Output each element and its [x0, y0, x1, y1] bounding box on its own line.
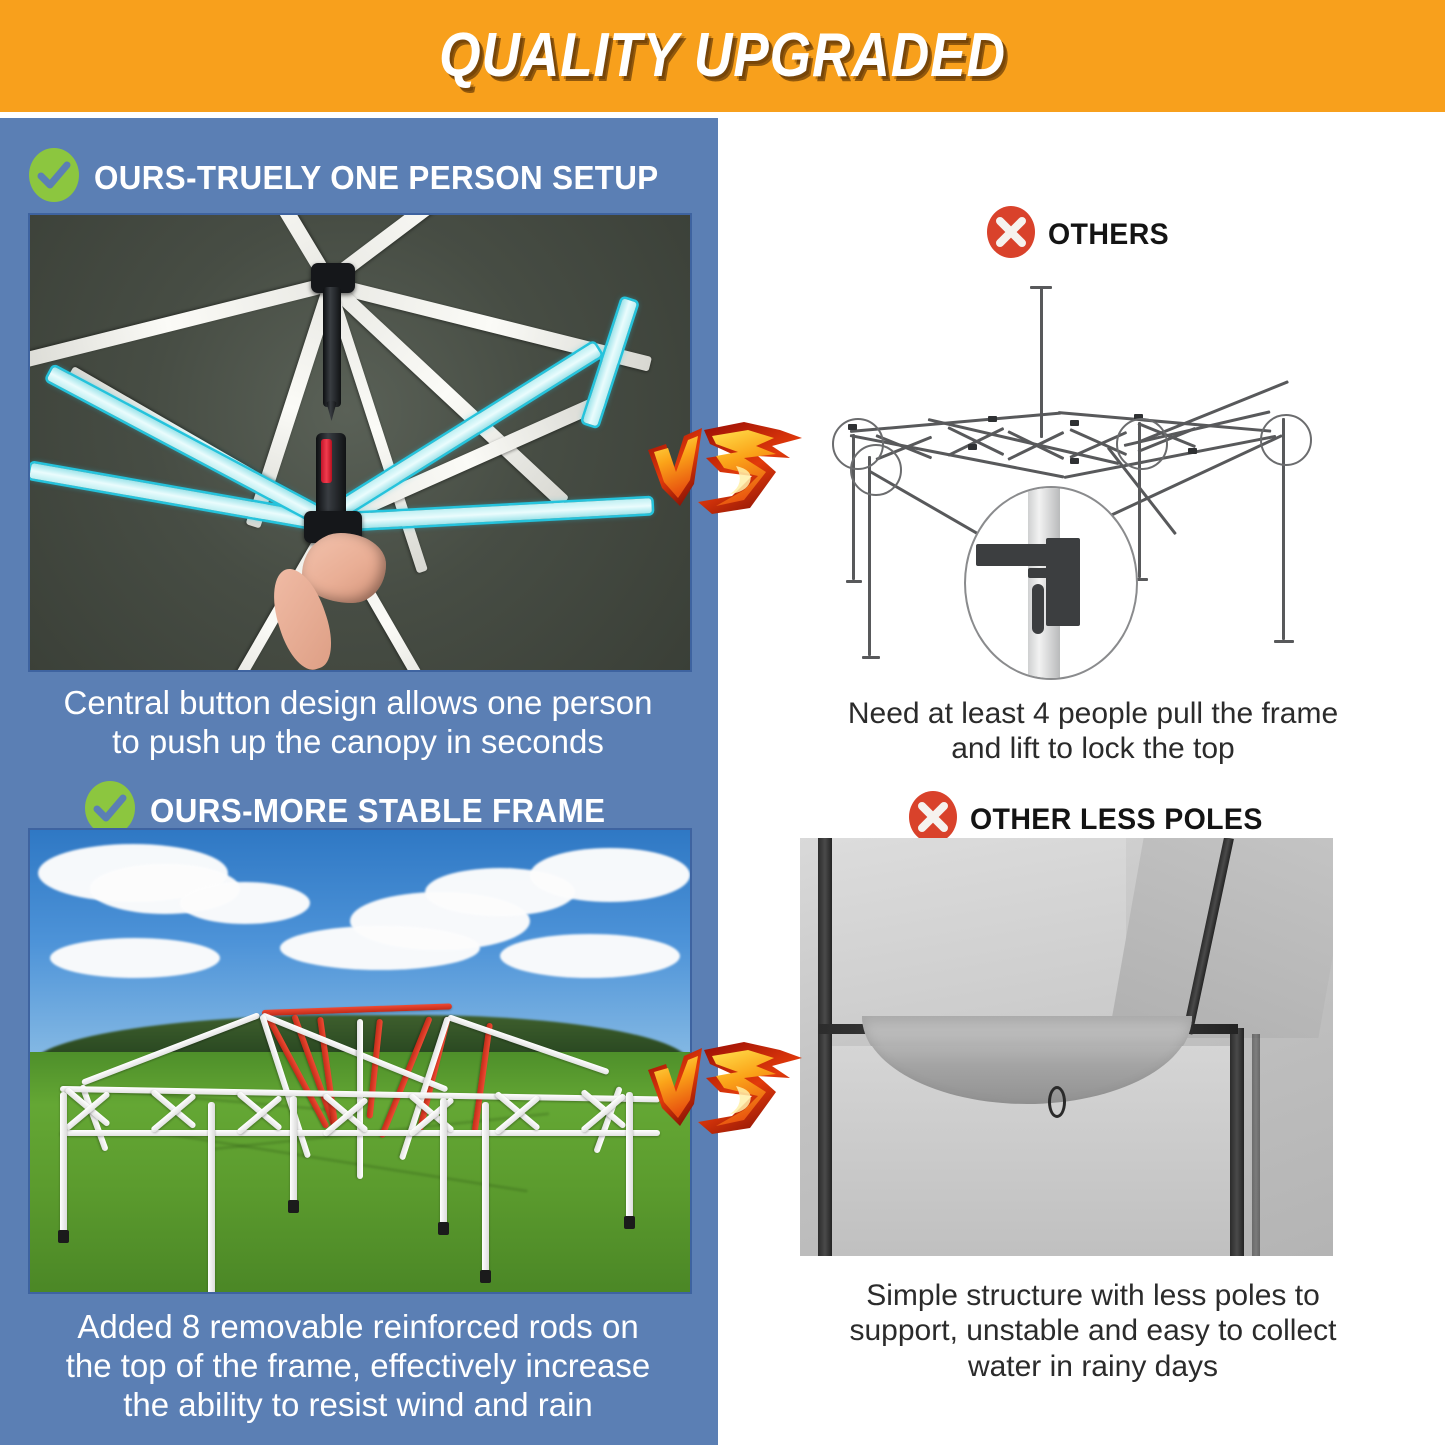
frame-foot	[288, 1200, 299, 1213]
frame-foot	[624, 1216, 635, 1229]
ours-setup-heading-row: OURS-TRUELY ONE PERSON SETUP	[28, 147, 688, 208]
frame-leg	[290, 1096, 297, 1206]
others-caption: Need at least 4 people pull the frame an…	[788, 696, 1398, 767]
others-heading: OTHERS	[1048, 218, 1169, 252]
callout-circle	[850, 444, 902, 496]
caption-line: Simple structure with less poles to supp…	[788, 1278, 1398, 1384]
vs-badge-top	[640, 410, 810, 530]
check-circle-icon	[28, 147, 80, 208]
cloud	[500, 934, 680, 978]
background-pole	[1252, 1034, 1260, 1256]
caption-line: Central button design allows one person …	[28, 684, 688, 762]
vs-badge-bottom	[640, 1030, 810, 1150]
joint-mark	[988, 416, 997, 422]
cloud	[280, 926, 480, 970]
joint-mark	[1188, 448, 1197, 454]
cross-arm	[976, 544, 1048, 566]
lock-detail-callout	[964, 486, 1138, 680]
other-less-poles-caption: Simple structure with less poles to supp…	[788, 1278, 1398, 1384]
product-comparison-infographic: QUALITY UPGRADED OURS-TRUELY ONE PERSON …	[0, 0, 1445, 1445]
center-pole	[323, 287, 341, 407]
roof-panel-left	[826, 838, 1126, 1028]
ours-frame-heading: OURS-MORE STABLE FRAME	[150, 792, 605, 830]
lock-block	[1046, 538, 1080, 626]
red-button-accent	[321, 439, 332, 483]
joint-mark	[1070, 458, 1079, 464]
frame-leg	[626, 1092, 633, 1222]
frame-leg	[60, 1092, 67, 1237]
other-less-poles-heading: OTHER LESS POLES	[970, 803, 1263, 837]
flame-vs-icon	[640, 1030, 810, 1150]
hanging-loop-front	[1048, 1086, 1066, 1118]
caption-line: Added 8 removable reinforced rods on the…	[20, 1308, 696, 1425]
ours-setup-heading: OURS-TRUELY ONE PERSON SETUP	[94, 159, 659, 197]
mast-cap	[1030, 286, 1052, 289]
leg-foot	[862, 656, 880, 659]
ours-frame-caption: Added 8 removable reinforced rods on the…	[20, 1308, 696, 1425]
caption-line: Need at least 4 people pull the frame an…	[788, 696, 1398, 767]
frame-bar	[60, 1130, 660, 1136]
cloud	[50, 938, 220, 978]
frame-leg	[482, 1102, 489, 1277]
leg-foot	[1274, 640, 1294, 643]
callout-circle	[1260, 414, 1312, 466]
canopy-frame-line-drawing	[808, 258, 1368, 680]
lock-pin	[1032, 584, 1044, 634]
frame-foot	[58, 1230, 69, 1243]
lock-tab	[1028, 568, 1050, 578]
others-heading-row: OTHERS	[986, 205, 1175, 264]
page-title: QUALITY UPGRADED	[101, 6, 1344, 106]
frame-foot	[438, 1222, 449, 1235]
leg-foot	[846, 580, 862, 583]
ours-setup-caption: Central button design allows one person …	[28, 684, 688, 762]
canopy-frame-on-grass-photo	[28, 828, 692, 1294]
corner-pole-left	[818, 838, 832, 1256]
joint-mark	[1070, 420, 1079, 426]
header-banner: QUALITY UPGRADED	[0, 0, 1445, 112]
cloud	[180, 882, 310, 924]
frame-leg	[208, 1102, 215, 1294]
frame-leg	[440, 1098, 447, 1228]
joint-mark	[968, 444, 977, 450]
callout-circle	[1116, 418, 1168, 470]
cloud	[530, 848, 690, 902]
corner-pole-right	[1230, 1028, 1244, 1256]
flame-vs-icon	[640, 410, 810, 530]
canopy-underside-photo	[28, 213, 692, 672]
sagging-canopy-roof-photo	[800, 838, 1333, 1256]
frame-foot	[480, 1270, 491, 1283]
cross-circle-icon	[986, 205, 1036, 264]
